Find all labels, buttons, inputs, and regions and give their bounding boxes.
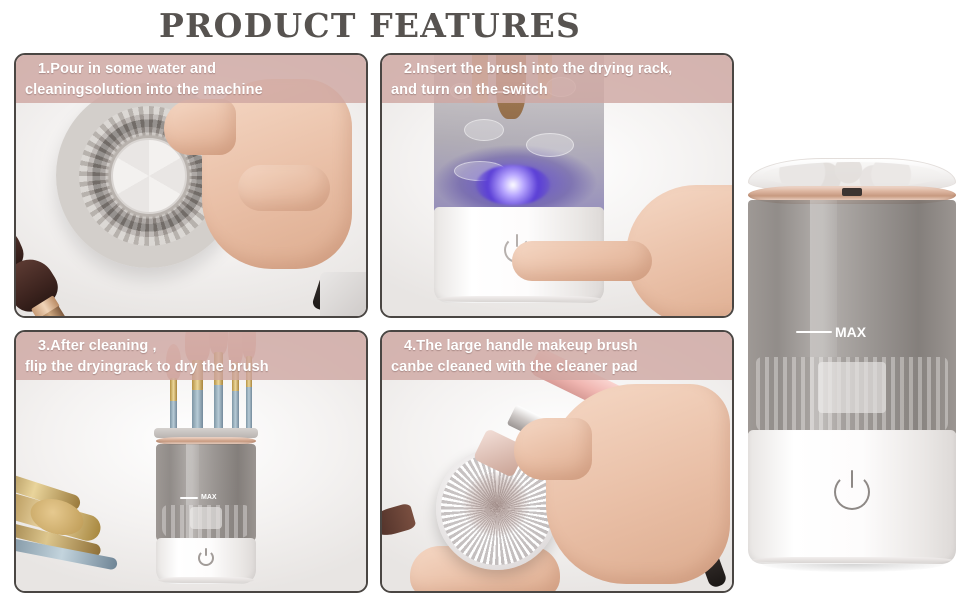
caption-line-1: 4.The large handle makeup brush bbox=[404, 338, 638, 354]
cleaner-machine: MAX bbox=[156, 428, 256, 584]
power-bar bbox=[205, 548, 207, 556]
base-lip bbox=[752, 557, 952, 563]
finger bbox=[164, 99, 236, 155]
feature-panel-3: MAX 3.After cleaning , flip the dryingra… bbox=[14, 330, 368, 593]
caption-line-2: cleaningsolution into the machine bbox=[25, 80, 356, 101]
panel-4-caption: 4.The large handle makeup brush canbe cl… bbox=[382, 332, 732, 380]
machine-tank bbox=[156, 444, 256, 542]
panel-4-photo: 4.The large handle makeup brush canbe cl… bbox=[382, 332, 732, 591]
hero-product-image: MAX bbox=[748, 158, 956, 568]
feature-panel-2: MAX 2.Insert the brush into the drying r… bbox=[380, 53, 734, 318]
lid-notch bbox=[842, 188, 863, 196]
thumb bbox=[238, 165, 330, 211]
panel-3-photo: MAX 3.After cleaning , flip the dryingra… bbox=[16, 332, 366, 591]
led-glow bbox=[476, 165, 550, 205]
max-text: MAX bbox=[835, 324, 866, 340]
brush-handle bbox=[214, 385, 223, 434]
caption-line-2: canbe cleaned with the cleaner pad bbox=[391, 357, 722, 378]
water-bubble bbox=[464, 119, 504, 141]
makeup-residue bbox=[463, 472, 529, 535]
inner-drying-rack bbox=[756, 357, 947, 433]
caption-line-2: and turn on the switch bbox=[391, 80, 722, 101]
pointing-finger bbox=[512, 241, 652, 281]
panel-1-caption: 1.Pour in some water and cleaningsolutio… bbox=[16, 55, 366, 103]
thumb bbox=[514, 418, 592, 480]
phone-corner bbox=[320, 272, 366, 316]
panel-1-photo: 1.Pour in some water and cleaningsolutio… bbox=[16, 55, 366, 316]
power-icon[interactable] bbox=[834, 474, 870, 510]
base-lip bbox=[158, 577, 254, 583]
page-title: PRODUCT FEATURES bbox=[0, 4, 740, 48]
brush-handle bbox=[246, 387, 252, 434]
panel-2-photo: MAX 2.Insert the brush into the drying r… bbox=[382, 55, 732, 316]
feature-panel-4: 4.The large handle makeup brush canbe cl… bbox=[380, 330, 734, 593]
max-fill-line: MAX bbox=[180, 494, 217, 501]
caption-line-1: 3.After cleaning , bbox=[38, 338, 157, 354]
caption-line-1: 2.Insert the brush into the drying rack, bbox=[404, 61, 672, 77]
inner-rack bbox=[162, 505, 250, 538]
max-fill-line: MAX bbox=[796, 324, 866, 340]
max-dash bbox=[180, 497, 198, 499]
base-lip bbox=[437, 296, 600, 302]
panel-3-caption: 3.After cleaning , flip the dryingrack t… bbox=[16, 332, 366, 380]
caption-line-2: flip the dryingrack to dry the brush bbox=[25, 357, 356, 378]
brush-ferrule bbox=[170, 378, 177, 402]
power-icon[interactable] bbox=[198, 550, 214, 566]
hand-holding-brush bbox=[546, 384, 730, 584]
max-text: MAX bbox=[201, 494, 217, 501]
max-dash bbox=[796, 331, 832, 333]
caption-line-1: 1.Pour in some water and bbox=[38, 61, 216, 77]
feature-panel-grid: 1.Pour in some water and cleaningsolutio… bbox=[14, 53, 734, 593]
lid-texture bbox=[763, 162, 940, 188]
product-tank bbox=[748, 200, 956, 438]
power-bar bbox=[851, 470, 853, 489]
panel-2-caption: 2.Insert the brush into the drying rack,… bbox=[382, 55, 732, 103]
feature-panel-1: 1.Pour in some water and cleaningsolutio… bbox=[14, 53, 368, 318]
water-bubble bbox=[526, 133, 574, 157]
